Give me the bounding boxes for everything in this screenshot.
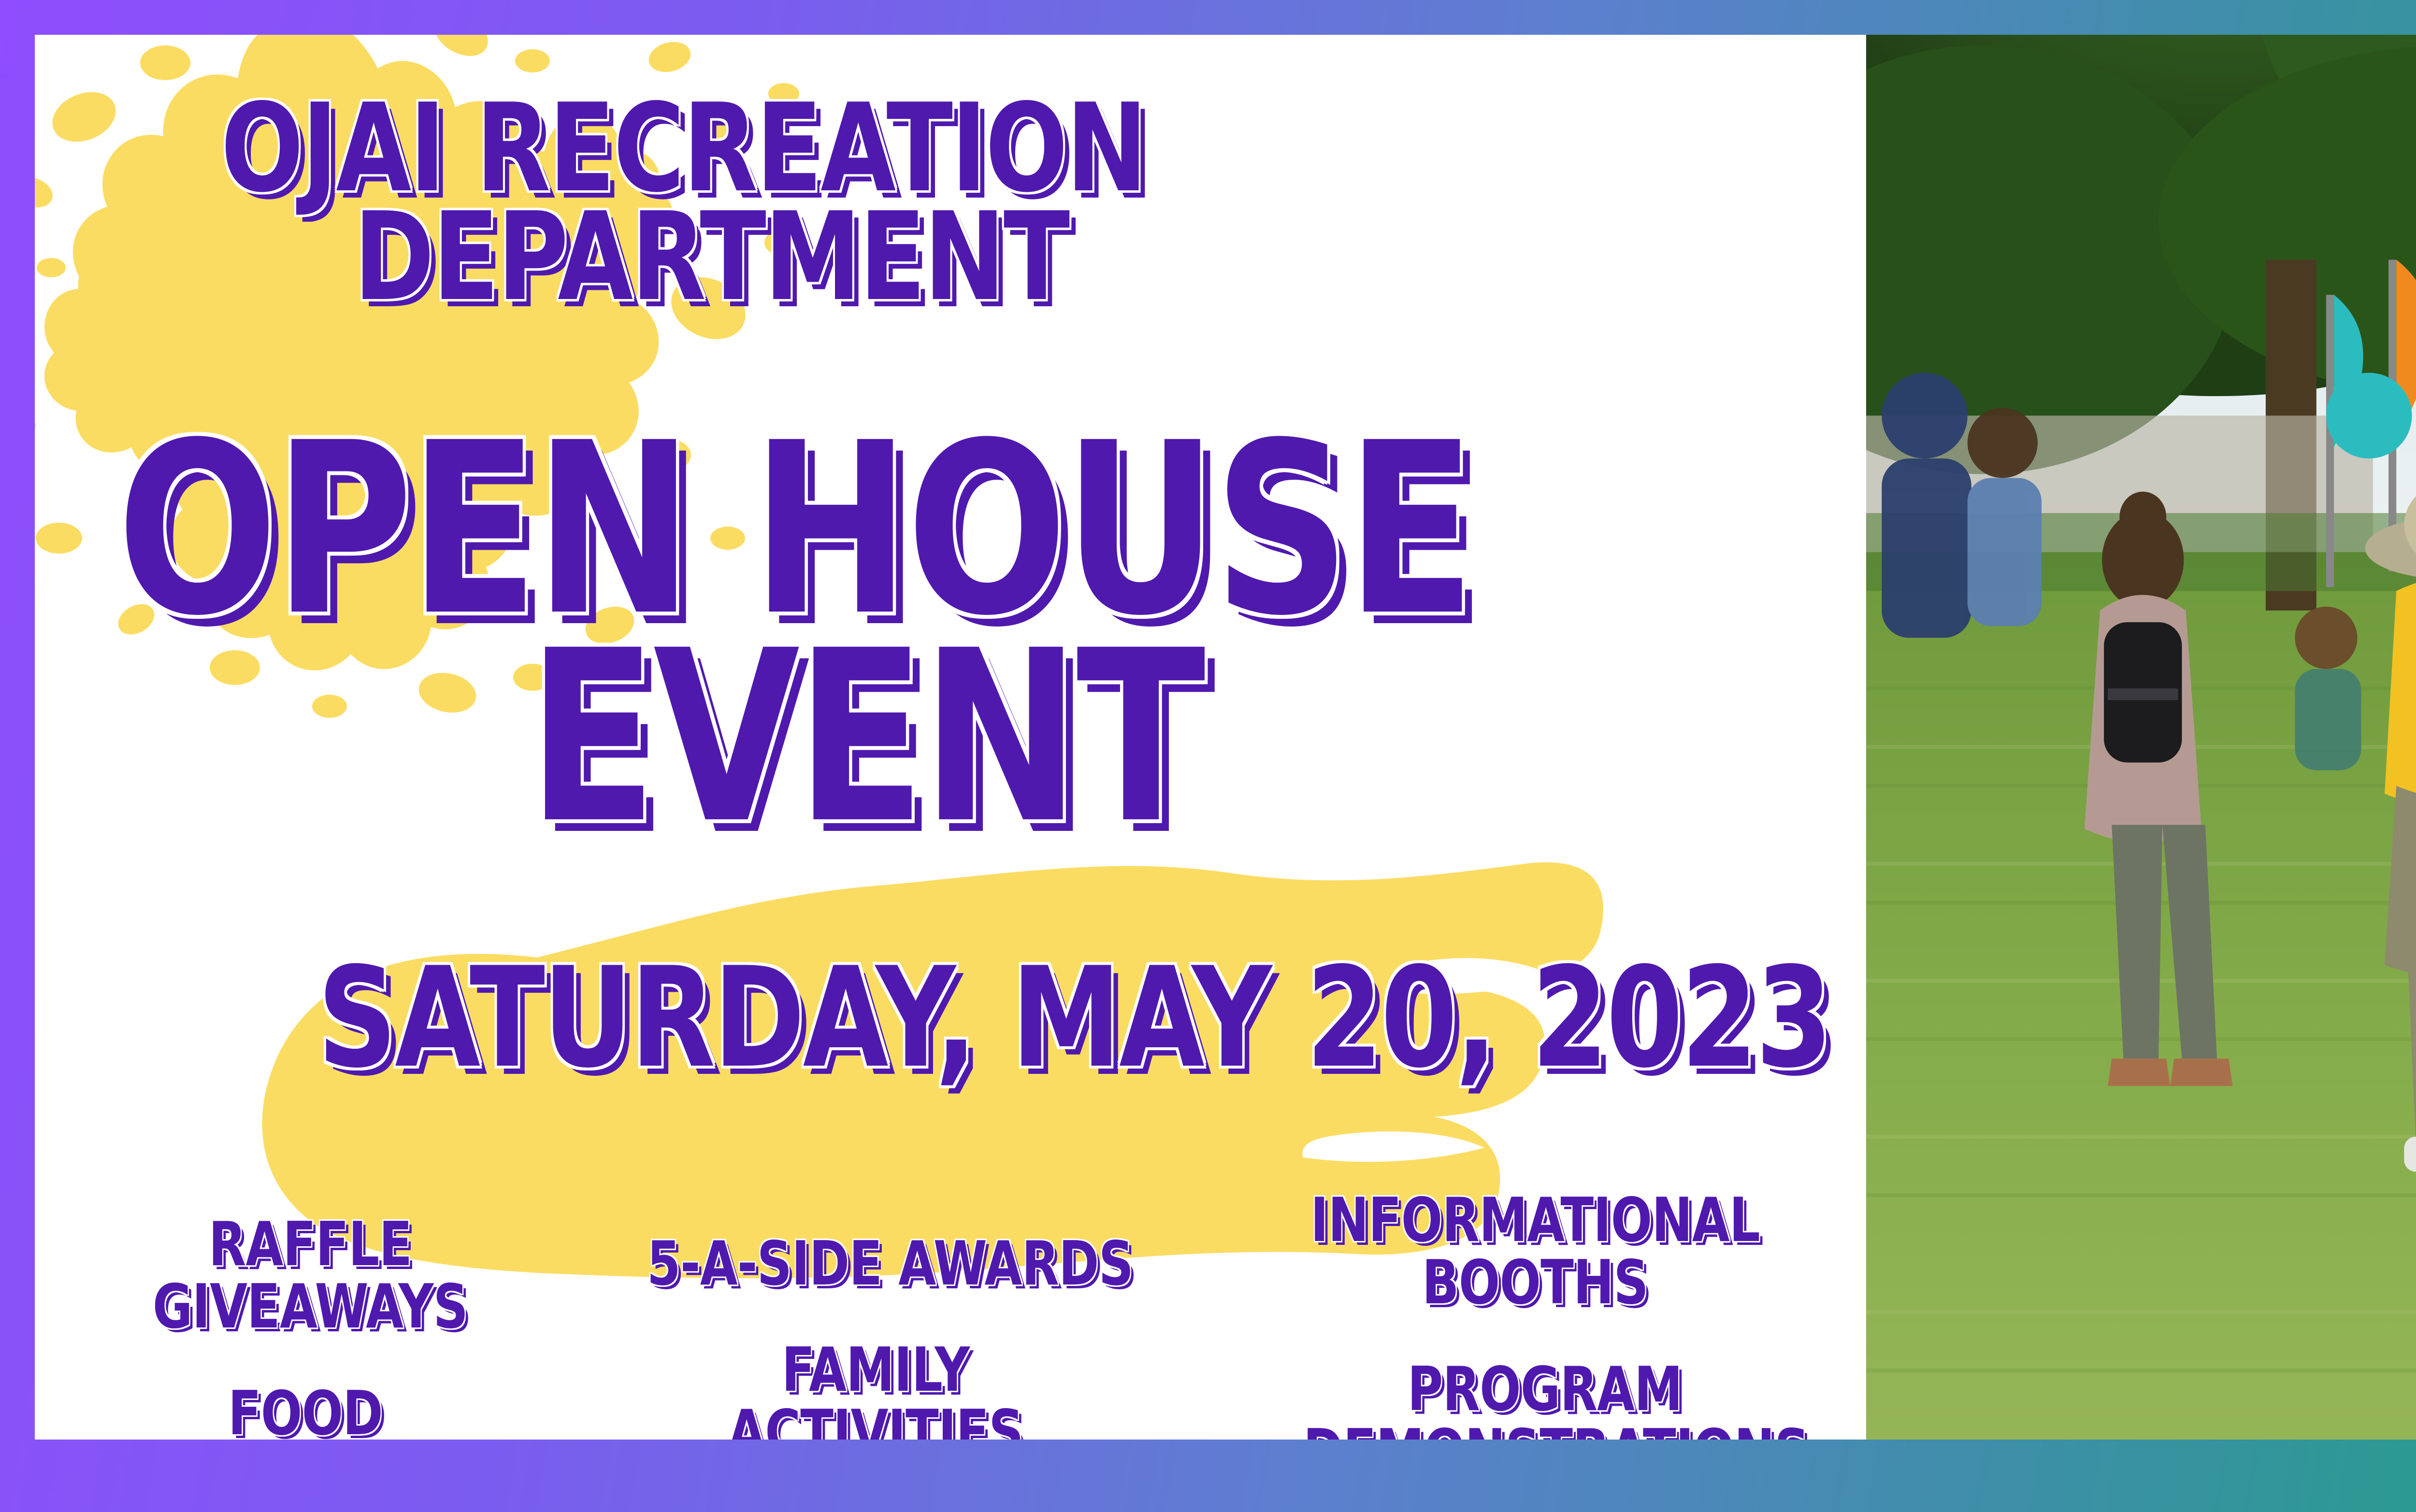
flyer-white-panel: OJAI RECREATION DEPARTMENT OPEN HOUSE EV…: [35, 35, 2416, 1440]
flyer-text-column: OJAI RECREATION DEPARTMENT OPEN HOUSE EV…: [35, 35, 1866, 1440]
org-name-line-2: DEPARTMENT: [354, 201, 1068, 314]
event-flyer: OJAI RECREATION DEPARTMENT OPEN HOUSE EV…: [0, 0, 2416, 1512]
event-title-line-2: EVENT: [528, 629, 1202, 847]
feature-5-a-side-awards: 5-A-SIDE AWARDS: [639, 1233, 1141, 1295]
park-scene-illustration: [1866, 35, 2416, 1440]
feature-family-activities: FAMILY ACTIVITIES: [702, 1339, 1050, 1440]
feature-raffle-giveaways: RAFFLE GIVEAWAYS: [136, 1213, 484, 1338]
event-photograph: [1866, 35, 2416, 1440]
feature-food-trucks: FOOD TRUCKS: [131, 1383, 479, 1440]
feature-program-demonstrations: PROGRAM DEMONSTRATIONS: [1303, 1358, 1786, 1440]
feature-informational-booths: INFORMATIONAL BOOTHS: [1294, 1189, 1777, 1313]
event-date: SATURDAY, MAY 20, 2023: [317, 955, 1830, 1082]
